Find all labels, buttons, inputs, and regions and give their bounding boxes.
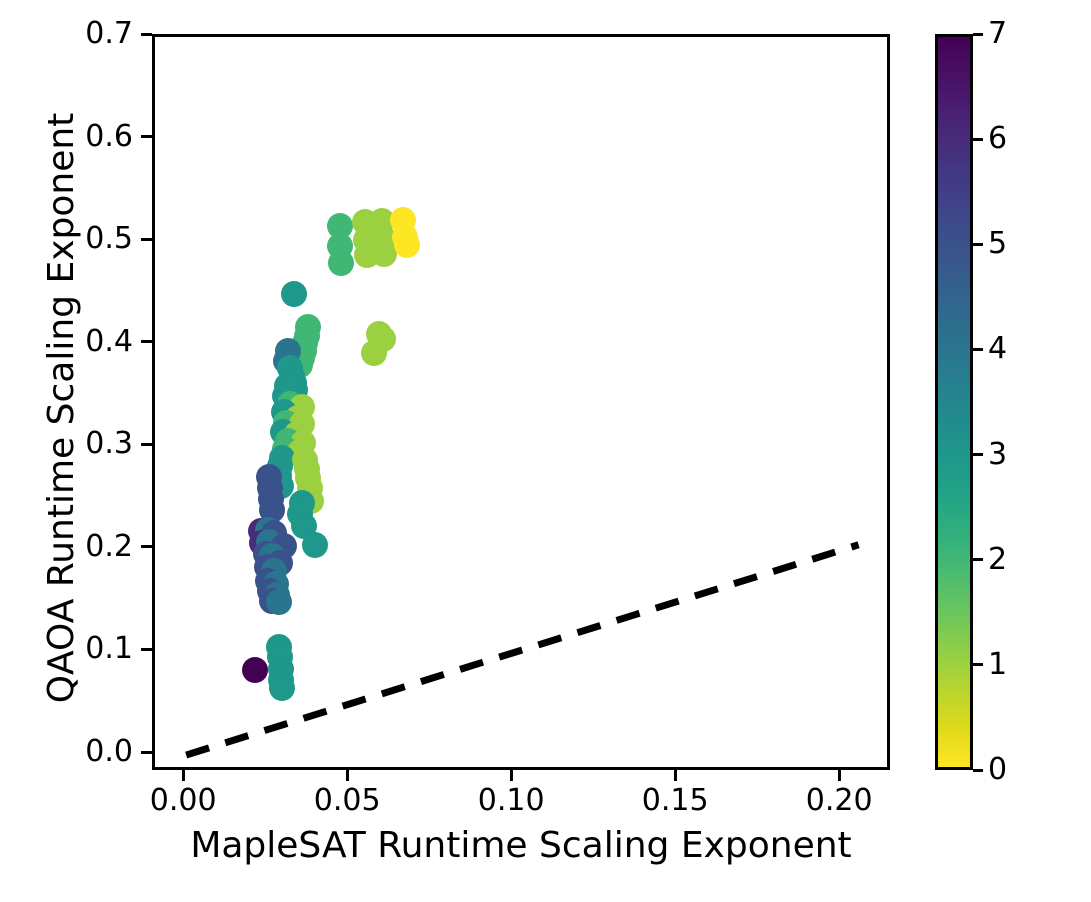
x-tick-label: 0.00 xyxy=(150,786,217,816)
colorbar-tick-mark xyxy=(973,243,983,246)
x-tick-mark xyxy=(510,770,513,781)
colorbar-tick-mark xyxy=(973,558,983,561)
colorbar-tick-label: 2 xyxy=(988,545,1007,575)
colorbar-tick-mark xyxy=(973,348,983,351)
y-tick-mark xyxy=(141,545,152,548)
scatter-point xyxy=(394,232,420,258)
colorbar-tick-label: 0 xyxy=(988,755,1007,785)
y-tick-label: 0.2 xyxy=(85,532,133,562)
scatter-point xyxy=(302,532,328,558)
scatter-point xyxy=(242,657,268,683)
y-tick-label: 0.7 xyxy=(85,19,133,49)
x-tick-mark xyxy=(346,770,349,781)
colorbar-tick-label: 5 xyxy=(988,229,1007,259)
y-tick-mark xyxy=(141,33,152,36)
colorbar-gradient xyxy=(938,37,970,767)
colorbar-tick-mark xyxy=(973,769,983,772)
scatter-point xyxy=(371,241,397,267)
plot-canvas xyxy=(155,37,887,767)
y-tick-label: 0.1 xyxy=(85,634,133,664)
y-tick-label: 0.4 xyxy=(85,327,133,357)
colorbar xyxy=(935,34,973,770)
y-tick-mark xyxy=(141,238,152,241)
y-tick-label: 0.0 xyxy=(85,737,133,767)
x-axis-title: MapleSAT Runtime Scaling Exponent xyxy=(152,828,890,864)
y-tick-mark xyxy=(141,340,152,343)
x-tick-mark xyxy=(674,770,677,781)
colorbar-tick-mark xyxy=(973,33,983,36)
x-tick-mark xyxy=(182,770,185,781)
x-tick-label: 0.20 xyxy=(806,786,873,816)
y-tick-mark xyxy=(141,135,152,138)
colorbar-tick-mark xyxy=(973,663,983,666)
y-tick-mark xyxy=(141,751,152,754)
colorbar-tick-label: 6 xyxy=(988,124,1007,154)
y-tick-label: 0.5 xyxy=(85,224,133,254)
y-tick-label: 0.6 xyxy=(85,122,133,152)
x-tick-label: 0.05 xyxy=(314,786,381,816)
y-tick-mark xyxy=(141,648,152,651)
x-tick-label: 0.15 xyxy=(642,786,709,816)
colorbar-tick-label: 7 xyxy=(988,19,1007,49)
plot-axes-frame xyxy=(152,34,890,770)
scatter-figure: 0.000.050.100.150.20 0.00.10.20.30.40.50… xyxy=(0,0,1091,902)
colorbar-tick-mark xyxy=(973,453,983,456)
colorbar-tick-label: 4 xyxy=(988,334,1007,364)
x-tick-label: 0.10 xyxy=(478,786,545,816)
y-tick-label: 0.3 xyxy=(85,429,133,459)
scatter-point xyxy=(281,281,307,307)
colorbar-tick-mark xyxy=(973,138,983,141)
y-axis-title: QAOA Runtime Scaling Exponent xyxy=(44,28,80,788)
colorbar-tick-label: 3 xyxy=(988,440,1007,470)
colorbar-tick-label: 1 xyxy=(988,650,1007,680)
x-tick-mark xyxy=(838,770,841,781)
y-tick-mark xyxy=(141,443,152,446)
identity-reference-line xyxy=(155,37,887,767)
scatter-point xyxy=(328,250,354,276)
